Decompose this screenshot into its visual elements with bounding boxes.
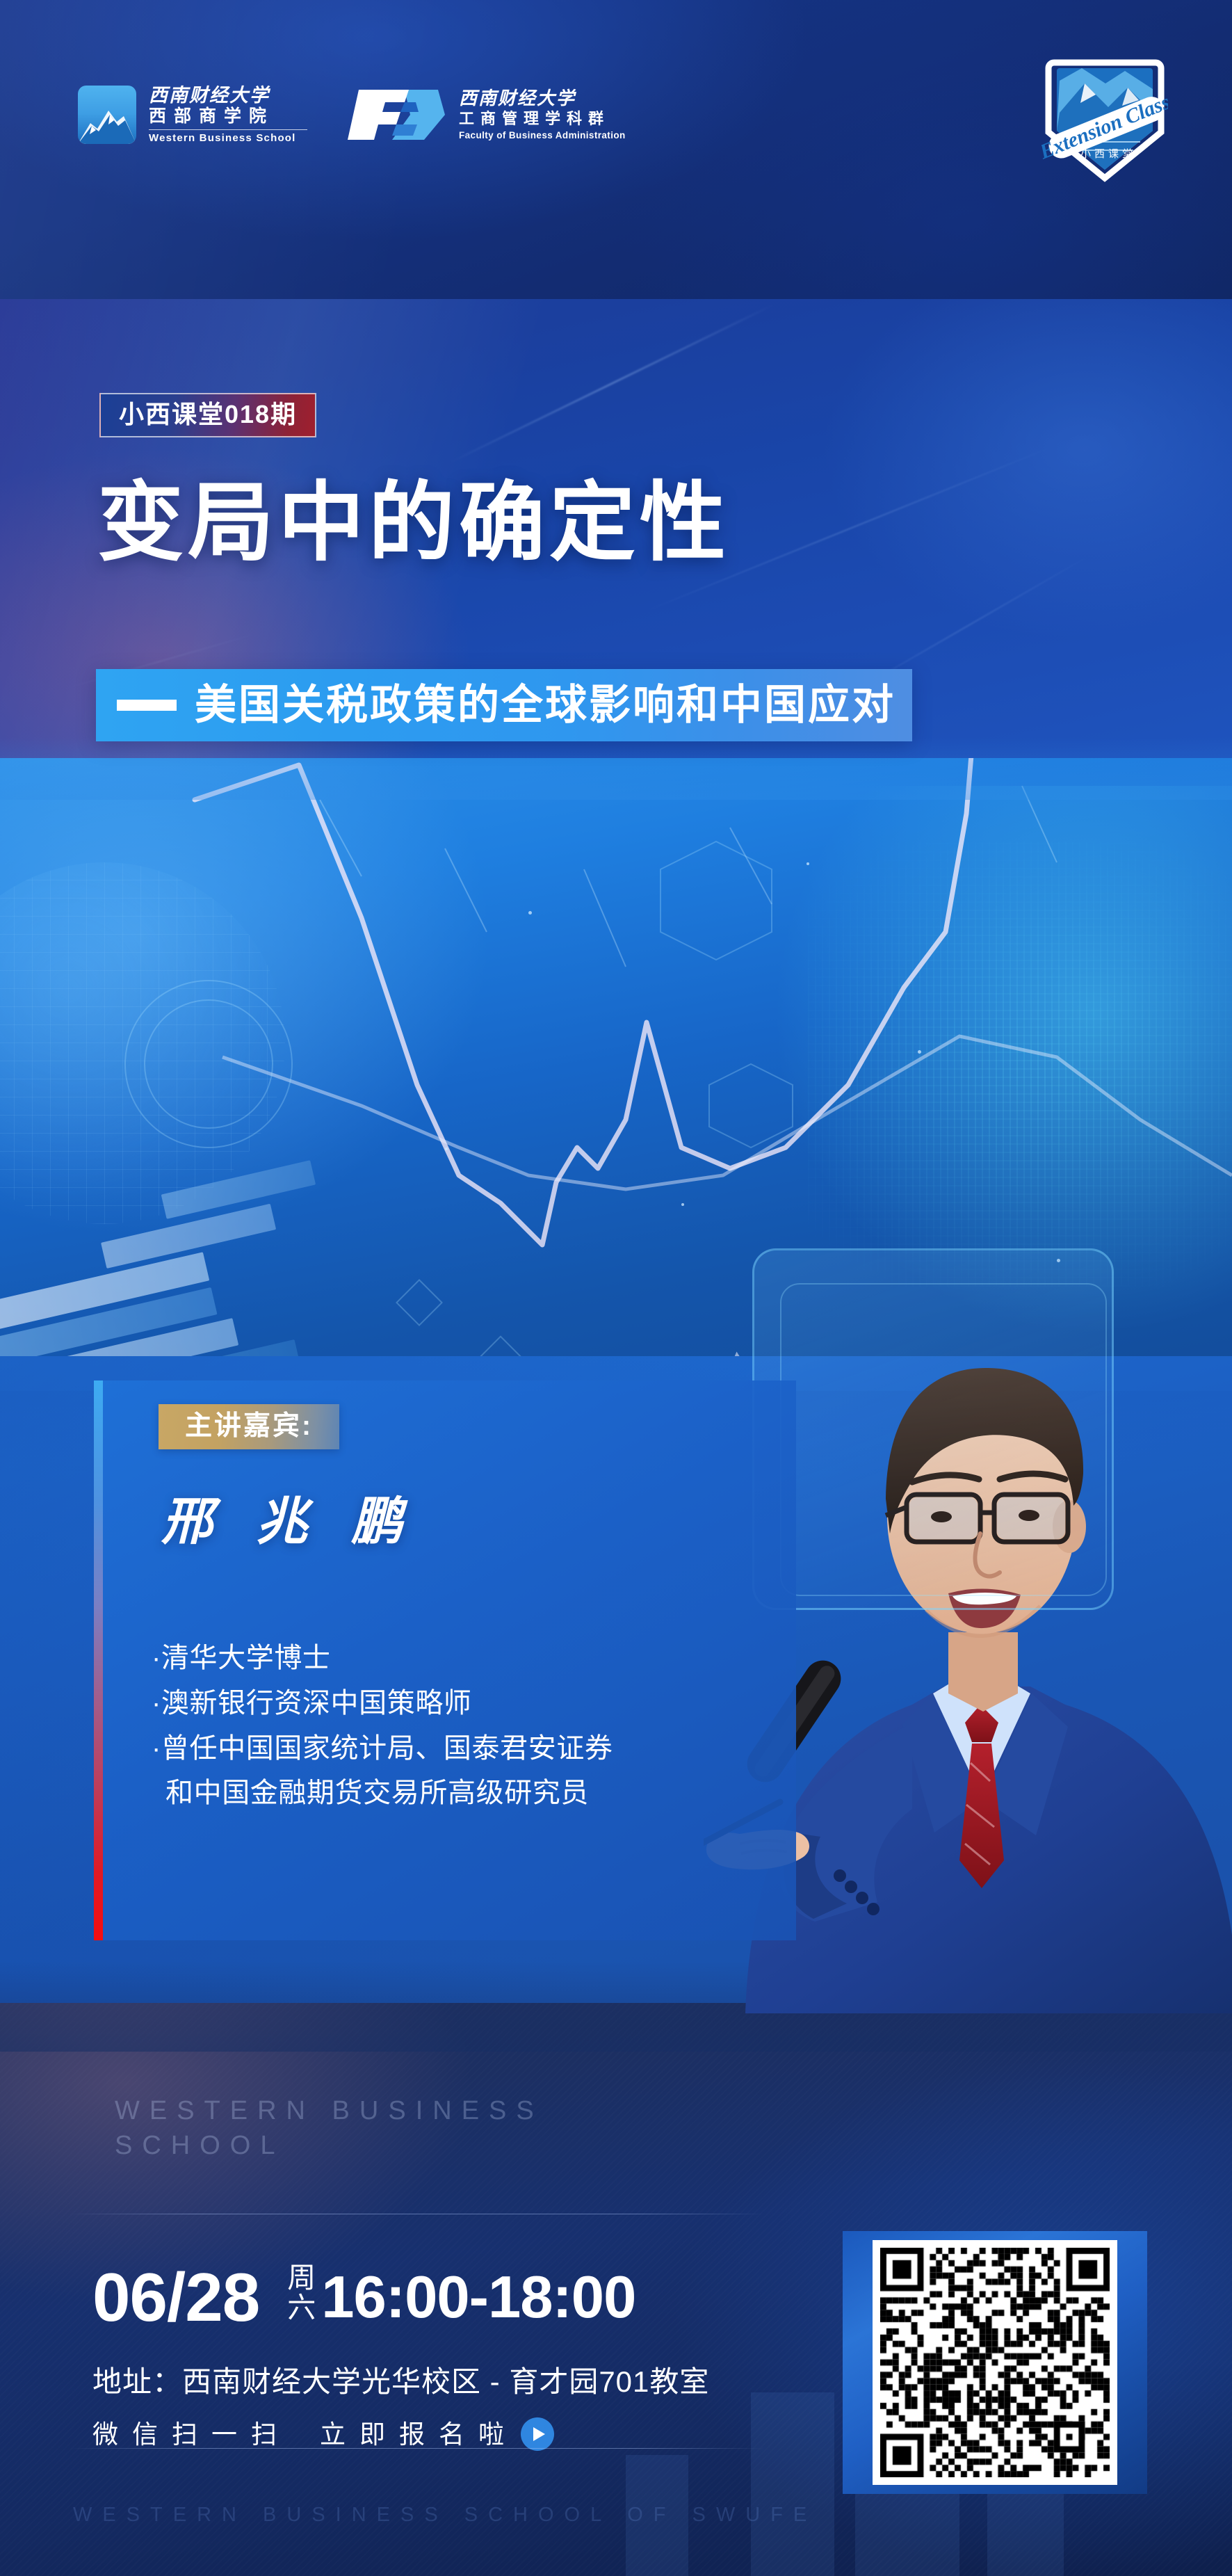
logo-wbs-cn-school: 西部商学院 bbox=[149, 106, 307, 127]
logo-wbs-cn-university: 西南财经大学 bbox=[149, 85, 307, 106]
header-logos: 西南财经大学 西部商学院 Western Business School 西南财… bbox=[78, 85, 626, 144]
extension-class-badge[interactable]: Extension Class 小西课堂 bbox=[1041, 53, 1168, 182]
episode-badge: 小西课堂018期 bbox=[99, 393, 316, 437]
speaker-name: 邢 兆 鹏 bbox=[161, 1497, 418, 1548]
registration-cta-row[interactable]: 微信扫一扫 立即报名啦 bbox=[92, 2417, 554, 2451]
page-title: 变局中的确定性 bbox=[97, 480, 730, 566]
fba-monogram-icon bbox=[341, 87, 445, 143]
watermark-mid: WESTERN BUSINESS SCHOOL bbox=[115, 2093, 544, 2163]
logo-western-business-school[interactable]: 西南财经大学 西部商学院 Western Business School bbox=[78, 85, 307, 144]
event-date: 06/28 bbox=[92, 2266, 259, 2328]
watermark-mid-line-1: WESTERN BUSINESS bbox=[115, 2093, 544, 2128]
speaker-bio-item: ·清华大学博士 bbox=[152, 1636, 749, 1681]
logo-fba-cn-faculty: 工商管理学科群 bbox=[459, 109, 626, 129]
event-weekday-char-1: 周 bbox=[287, 2263, 316, 2293]
logo-faculty-business-administration[interactable]: 西南财经大学 工商管理学科群 Faculty of Business Admin… bbox=[341, 87, 626, 143]
hud-frame-inner-decoration bbox=[780, 1283, 1107, 1596]
speaker-bio-list: ·清华大学博士 ·澳新银行资深中国策略师 ·曾任中国国家统计局、国泰君安证券 和… bbox=[152, 1636, 749, 1816]
footer-divider-bottom bbox=[70, 2448, 765, 2449]
logo-fba-en: Faculty of Business Administration bbox=[459, 130, 626, 140]
speaker-label-badge: 主讲嘉宾: bbox=[159, 1404, 339, 1449]
poster-root: 西南财经大学 西部商学院 Western Business School 西南财… bbox=[0, 0, 1232, 2576]
wechat-scan-text: 微信扫一扫 bbox=[92, 2422, 291, 2447]
logo-fba-cn-university: 西南财经大学 bbox=[459, 88, 626, 109]
watermark-mid-line-2: SCHOOL bbox=[115, 2128, 544, 2163]
logo-divider bbox=[149, 129, 307, 130]
watermark-footer: WESTERN BUSINESS SCHOOL OF SWUFE bbox=[73, 2504, 817, 2527]
register-now-text: 立即报名啦 bbox=[320, 2422, 518, 2447]
qr-code-icon[interactable] bbox=[873, 2240, 1117, 2485]
speaker-bio-item-continued: 和中国金融期货交易所高级研究员 bbox=[152, 1771, 749, 1816]
qr-code-frame[interactable] bbox=[843, 2231, 1147, 2494]
mountain-icon bbox=[78, 86, 136, 144]
speaker-bio-item: ·曾任中国国家统计局、国泰君安证券 bbox=[152, 1726, 749, 1771]
subtitle-dash-icon bbox=[117, 700, 177, 711]
footer-divider-top bbox=[70, 2214, 765, 2214]
event-time: 16:00-18:00 bbox=[321, 2270, 635, 2326]
event-weekday: 周 六 bbox=[287, 2263, 316, 2322]
subtitle-text: 美国关税政策的全球影响和中国应对 bbox=[195, 684, 895, 726]
qr-code-canvas[interactable] bbox=[880, 2248, 1110, 2477]
event-weekday-char-2: 六 bbox=[287, 2293, 316, 2323]
logo-wbs-en: Western Business School bbox=[149, 132, 307, 144]
subtitle-bar: 美国关税政策的全球影响和中国应对 bbox=[96, 669, 912, 741]
event-address: 地址：西南财经大学光华校区 - 育才园701教室 bbox=[92, 2367, 709, 2397]
speaker-panel-accent-bar bbox=[94, 1380, 103, 1940]
speaker-bio-item: ·澳新银行资深中国策略师 bbox=[152, 1681, 749, 1726]
extension-class-cn-label: 小西课堂 bbox=[1080, 148, 1136, 160]
event-datetime-row: 06/28 周 六 16:00-18:00 bbox=[92, 2263, 635, 2328]
play-triangle-icon[interactable] bbox=[521, 2417, 554, 2451]
